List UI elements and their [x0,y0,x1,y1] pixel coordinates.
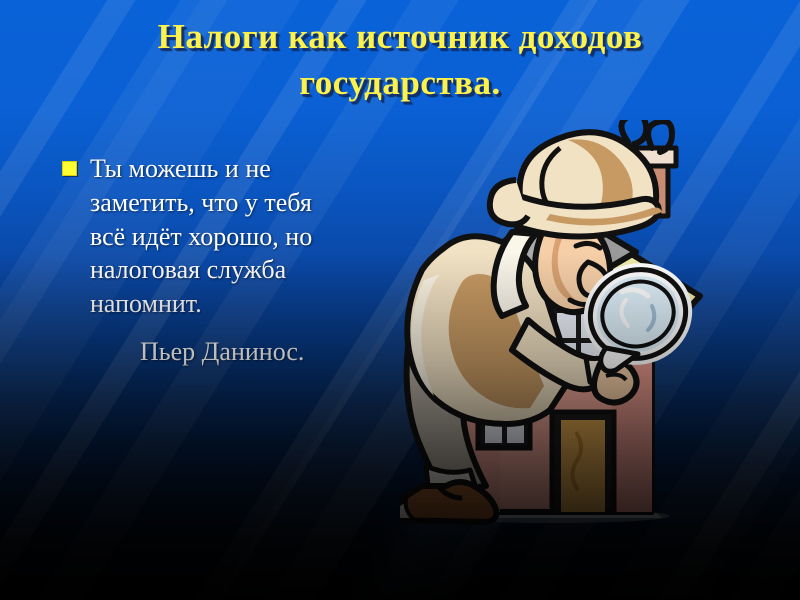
quote-text: Ты можешь и не заметить, что у тебя всё … [90,152,312,321]
slide-body: Ты можешь и не заметить, что у тебя всё … [62,152,410,367]
bullet-list-item: Ты можешь и не заметить, что у тебя всё … [62,152,410,321]
yellow-square-bullet-icon [62,161,77,176]
quote-attribution: Пьер Данинос. [140,337,410,367]
slide-title: Налоги как источник доходов государства. [40,14,760,105]
deerstalker-hat-icon [490,120,672,237]
detective-house-illustration [400,120,800,550]
house-door-icon [552,412,614,512]
presentation-slide: Налоги как источник доходов государства.… [0,0,800,600]
